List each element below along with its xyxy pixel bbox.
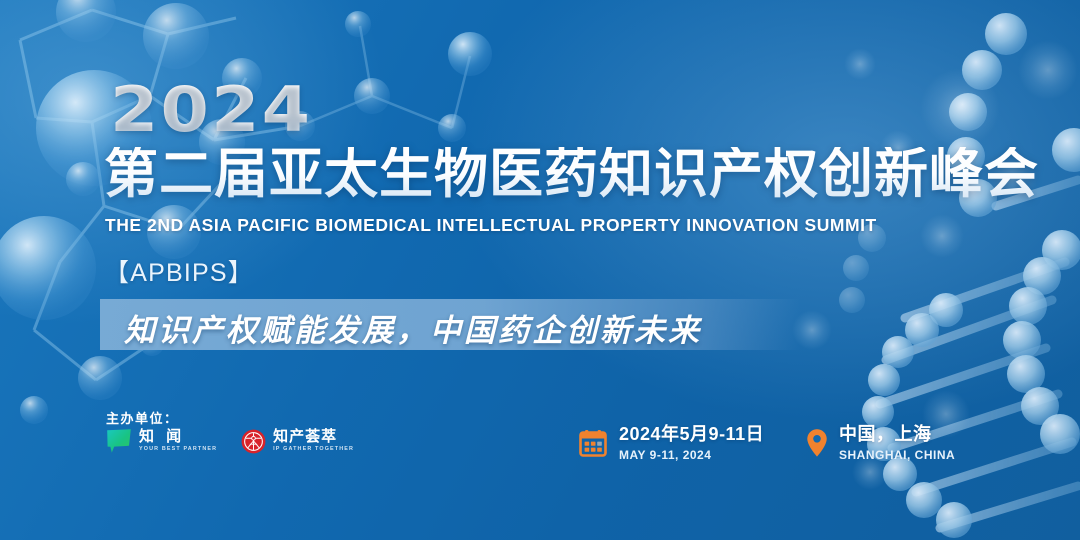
calendar-icon — [578, 428, 608, 458]
event-date-block: 2024年5月9-11日 MAY 9-11, 2024 — [578, 424, 764, 463]
circular-seal-logo-icon — [241, 429, 266, 454]
event-date-chinese: 2024年5月9-11日 — [619, 424, 764, 446]
event-slogan: 知识产权赋能发展，中国药企创新未来 — [124, 305, 702, 350]
organizer-list: 知 闻 YOUR BEST PARTNER 知产荟萃 — [106, 428, 354, 454]
organizer-zhichanhuicui-text: 知产荟萃 IP GATHER TOGETHER — [273, 429, 354, 453]
organizer-zhiwen-text: 知 闻 YOUR BEST PARTNER — [139, 429, 217, 453]
organizer-zhichanhuicui-tagline: IP GATHER TOGETHER — [273, 447, 354, 453]
event-location-english: SHANGHAI, CHINA — [839, 448, 955, 463]
event-date-english: MAY 9-11, 2024 — [619, 448, 764, 463]
organizer-label: 主办单位： — [106, 408, 179, 427]
organizer-zhiwen: 知 闻 YOUR BEST PARTNER — [106, 428, 217, 454]
organizer-zhichanhuicui: 知产荟萃 IP GATHER TOGETHER — [241, 429, 354, 454]
speech-bubble-logo-icon — [106, 428, 132, 454]
event-abbreviation: 【APBIPS】 — [104, 253, 254, 289]
organizer-zhiwen-tagline: YOUR BEST PARTNER — [139, 447, 217, 453]
organizer-zhichanhuicui-name: 知产荟萃 — [273, 429, 354, 445]
event-location-text: 中国，上海 SHANGHAI, CHINA — [839, 424, 955, 463]
banner-content: 2024 第二届亚太生物医药知识产权创新峰会 THE 2ND ASIA PACI… — [0, 0, 1080, 540]
organizer-zhiwen-name: 知 闻 — [139, 429, 217, 445]
event-location-block: 中国，上海 SHANGHAI, CHINA — [806, 424, 955, 463]
event-location-chinese: 中国，上海 — [839, 424, 955, 446]
event-date-text: 2024年5月9-11日 MAY 9-11, 2024 — [619, 424, 764, 463]
event-year: 2024 — [110, 79, 312, 141]
map-pin-icon — [806, 428, 828, 458]
event-title-chinese: 第二届亚太生物医药知识产权创新峰会 — [104, 147, 1039, 201]
event-title-english: THE 2ND ASIA PACIFIC BIOMEDICAL INTELLEC… — [105, 215, 877, 236]
conference-banner: 2024 第二届亚太生物医药知识产权创新峰会 THE 2ND ASIA PACI… — [0, 0, 1080, 540]
